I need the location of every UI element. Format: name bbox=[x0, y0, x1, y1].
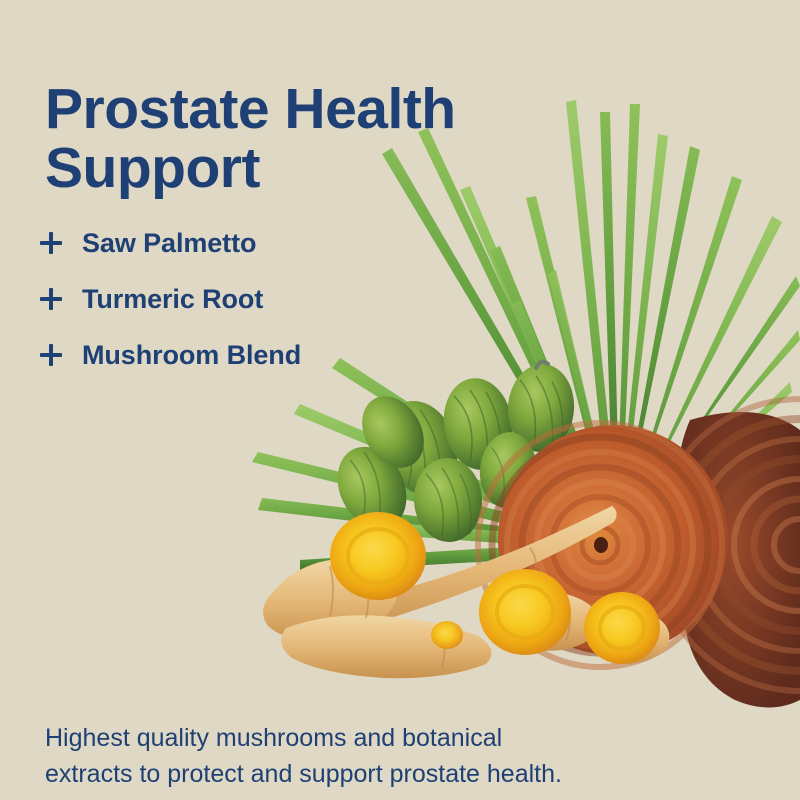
list-item: Saw Palmetto bbox=[38, 215, 301, 271]
reishi-mushroom-front bbox=[478, 423, 728, 667]
saw-palmetto-berries bbox=[324, 362, 577, 545]
reishi-mushroom-back bbox=[654, 399, 800, 708]
list-item: Turmeric Root bbox=[38, 271, 301, 327]
product-poster: Prostate Health Support Saw Palmetto Tur… bbox=[0, 0, 800, 800]
benefit-label: Turmeric Root bbox=[82, 284, 263, 315]
benefit-label: Saw Palmetto bbox=[82, 228, 256, 259]
turmeric-cut-face bbox=[330, 512, 660, 664]
turmeric-rhizome bbox=[263, 506, 669, 678]
plus-icon bbox=[38, 342, 64, 368]
list-item: Mushroom Blend bbox=[38, 327, 301, 383]
tagline: Highest quality mushrooms and botanical … bbox=[45, 721, 645, 792]
benefit-label: Mushroom Blend bbox=[82, 340, 301, 371]
benefit-list: Saw Palmetto Turmeric Root Mushroom Blen… bbox=[38, 215, 301, 383]
plus-icon bbox=[38, 286, 64, 312]
plus-icon bbox=[38, 230, 64, 256]
page-title: Prostate Health Support bbox=[45, 80, 565, 199]
